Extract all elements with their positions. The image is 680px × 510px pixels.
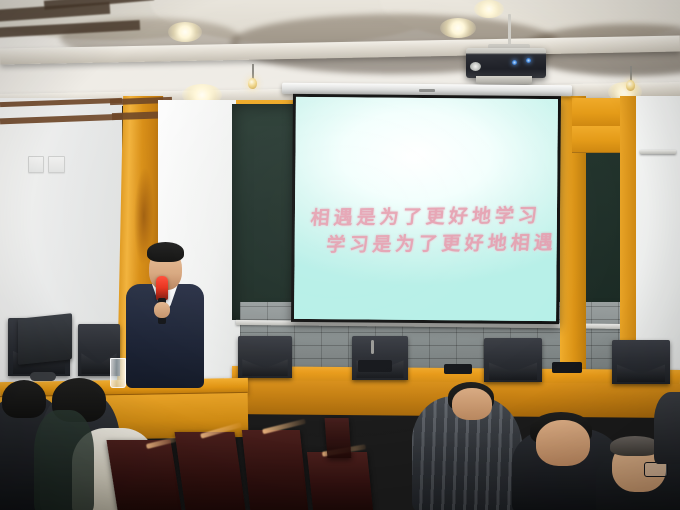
ceiling-light: [168, 22, 202, 42]
ceiling-light: [474, 0, 504, 18]
desk-object[interactable]: [444, 364, 472, 374]
seat-back[interactable]: [106, 440, 181, 510]
projector-led: [526, 58, 531, 63]
eyeglasses: [644, 462, 668, 477]
microphone[interactable]: [156, 276, 168, 300]
chair-detail: [371, 340, 374, 354]
screen-housing-knob: [419, 89, 435, 92]
projector-led: [512, 60, 517, 65]
wall-rail: [640, 150, 676, 154]
audience-head: [536, 420, 590, 466]
wall-light-switch[interactable]: [48, 156, 65, 173]
audience-member: [34, 410, 94, 510]
audience-hair: [610, 436, 660, 456]
projection-surface: 相遇是为了更好地学习 学习是为了更好地相遇: [294, 97, 558, 321]
seat-back[interactable]: [175, 432, 246, 510]
pendant-light-bulb: [626, 80, 635, 91]
projector-base: [476, 76, 532, 84]
projector-lens: [470, 62, 481, 71]
speaker: [118, 240, 212, 388]
projection-screen: 相遇是为了更好地学习 学习是为了更好地相遇: [291, 94, 561, 324]
wall-light-switch[interactable]: [28, 156, 44, 173]
audience-member: [654, 392, 680, 464]
audience-head: [452, 388, 492, 420]
audience-hair: [2, 380, 46, 418]
wood-panel: [572, 98, 622, 127]
projected-text-line-2: 学习是为了更好地相遇: [294, 228, 558, 258]
lecture-hall-photo: 相遇是为了更好地学习 学习是为了更好地相遇: [0, 0, 680, 510]
seat-back[interactable]: [242, 430, 308, 510]
speaker-hand: [154, 302, 170, 318]
wood-panel: [572, 126, 622, 153]
chair[interactable]: [484, 338, 542, 382]
pendant-light-bulb: [248, 78, 257, 89]
projector-mount-rod: [508, 14, 511, 46]
chair[interactable]: [238, 336, 292, 378]
desk-object[interactable]: [552, 362, 582, 373]
chair[interactable]: [352, 336, 408, 380]
desk-object[interactable]: [30, 372, 56, 381]
seat-back[interactable]: [325, 418, 352, 458]
laptop[interactable]: [18, 313, 72, 365]
seat-back[interactable]: [307, 452, 373, 510]
projected-text-line-1: 相遇是为了更好地学习: [294, 201, 558, 231]
desk-object[interactable]: [358, 360, 392, 372]
projector: [466, 48, 546, 78]
ceiling-light: [440, 18, 476, 38]
chair[interactable]: [612, 340, 670, 384]
speaker-hair: [147, 242, 184, 262]
